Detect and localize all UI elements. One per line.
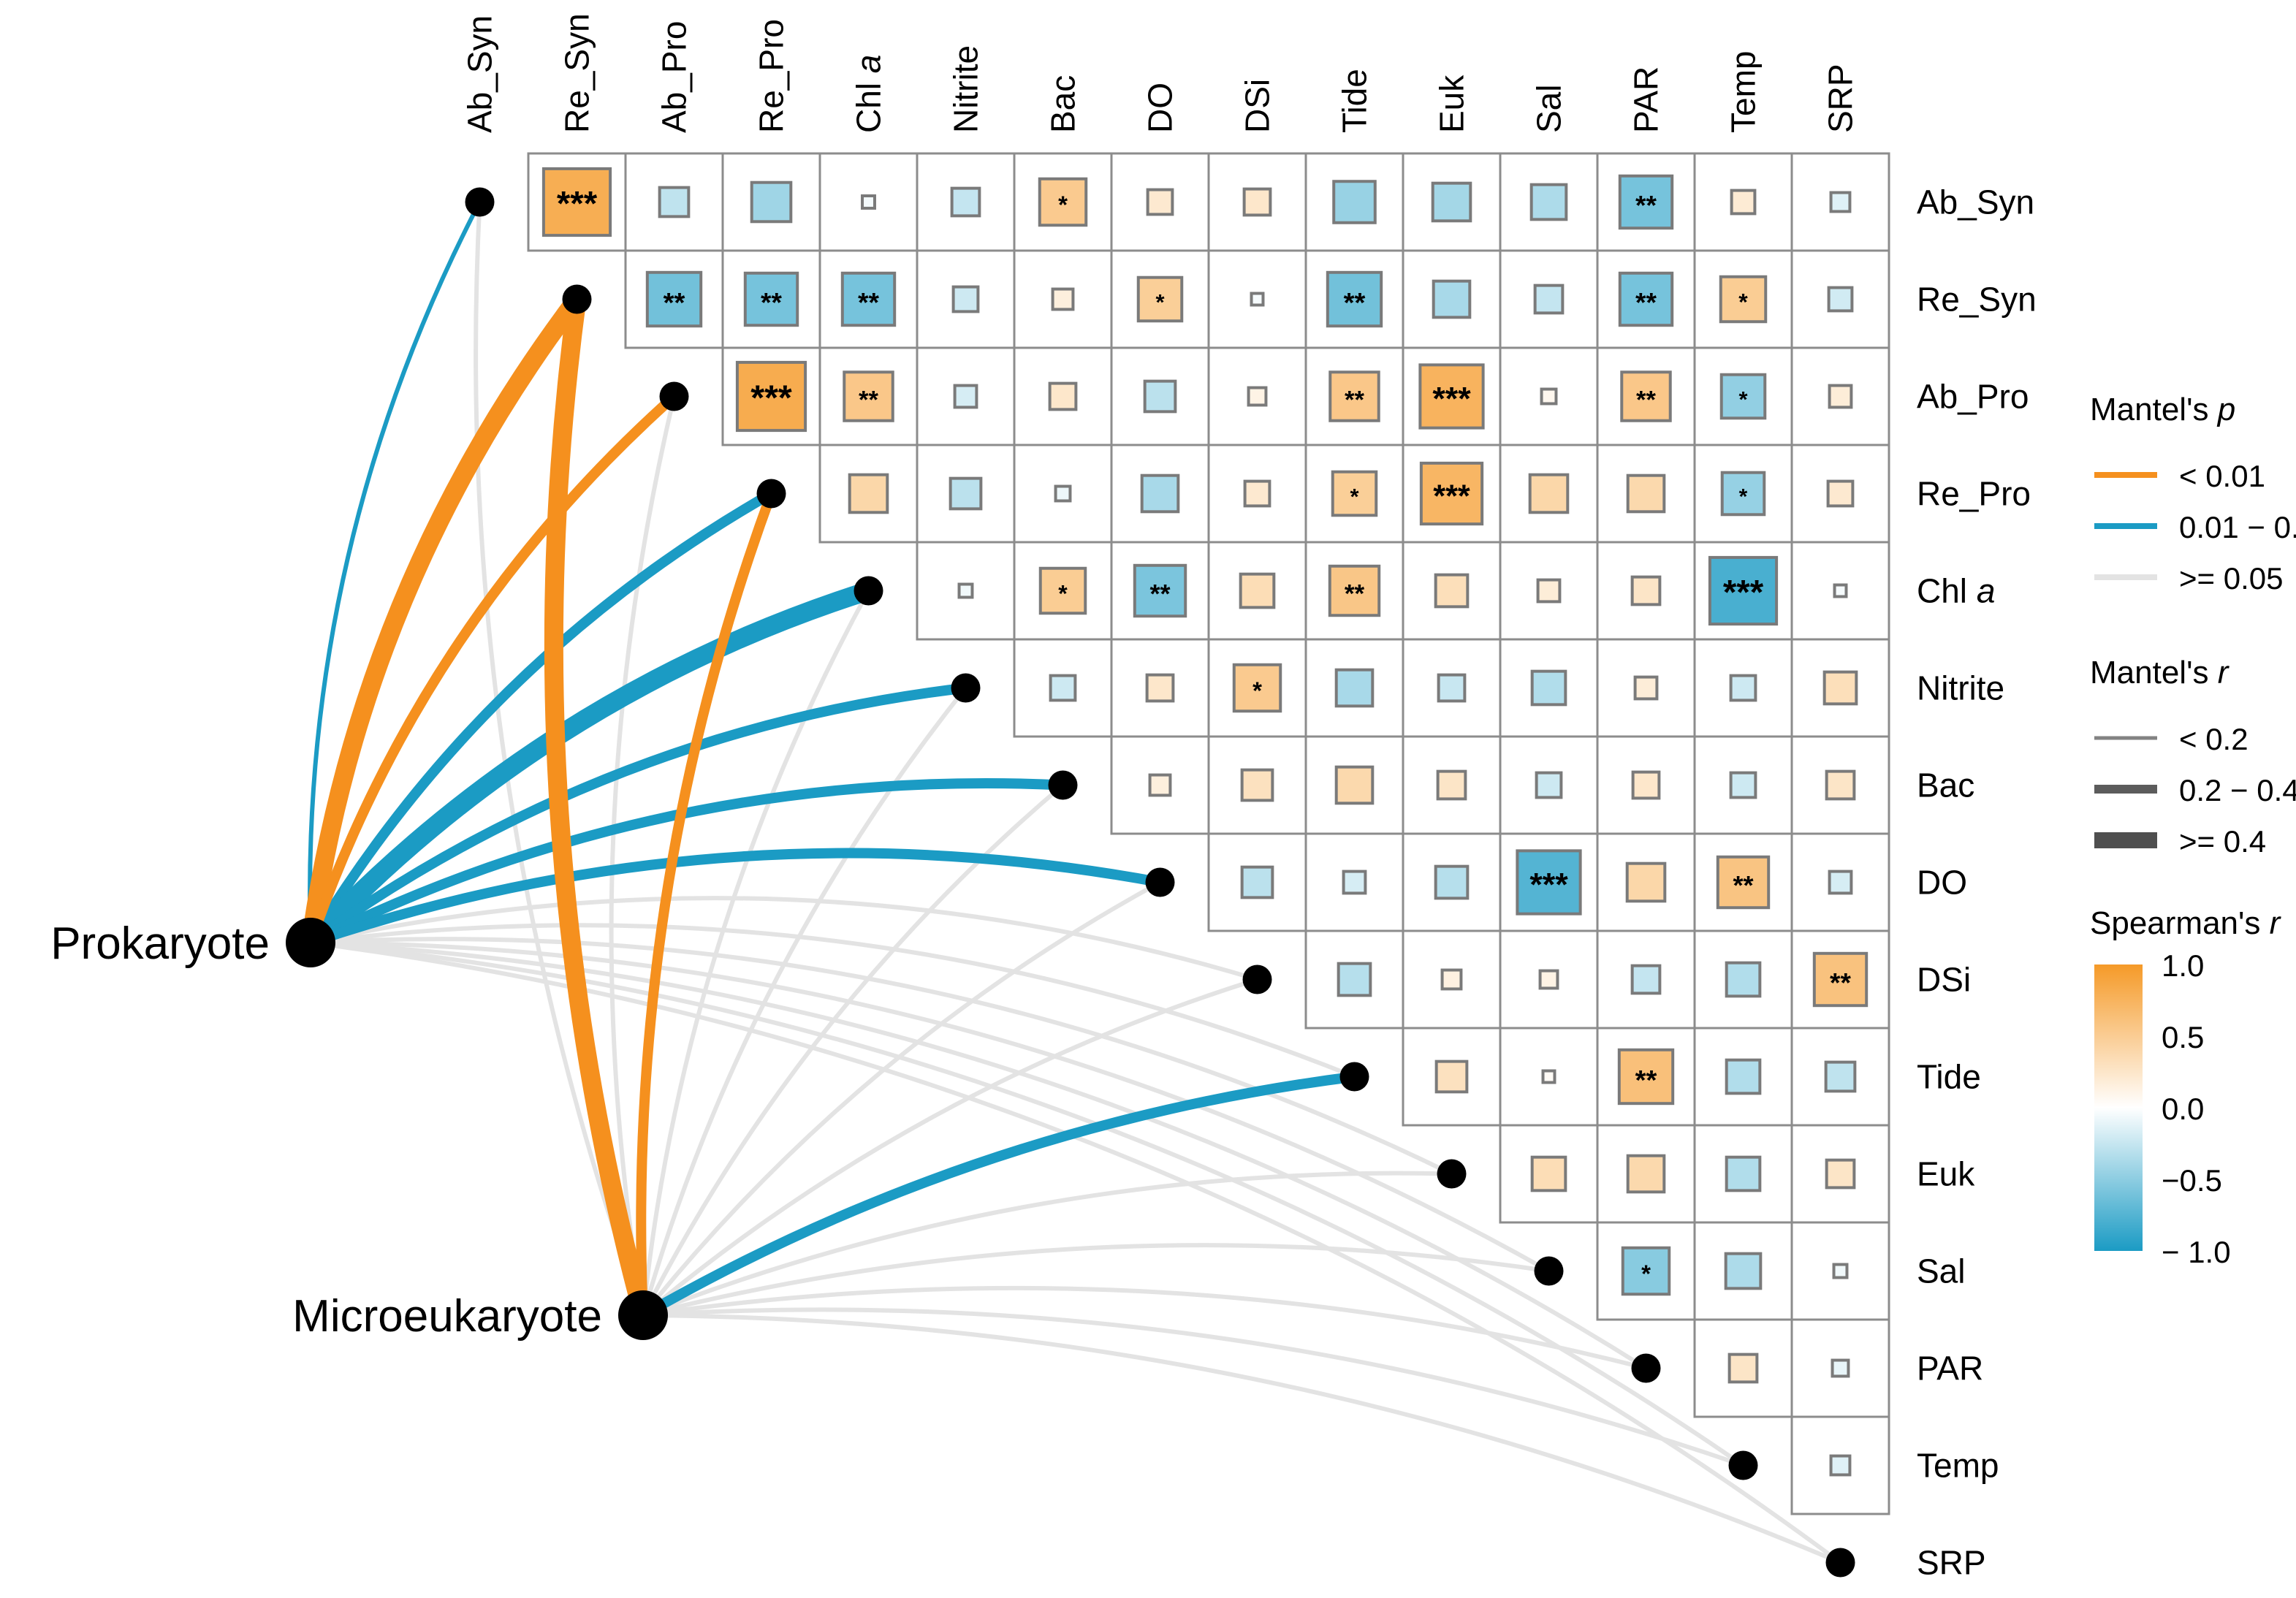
diagonal-node: [1243, 965, 1272, 994]
column-label: Re_Pro: [753, 19, 791, 133]
heatmap-cell-square: [1835, 585, 1847, 597]
heatmap-cell: ***: [544, 169, 610, 235]
column-label-text: Bac: [1044, 75, 1082, 133]
heatmap-cell: [1245, 482, 1270, 506]
heatmap-cell: [1727, 1060, 1760, 1094]
heatmap-cell-square: [1727, 1157, 1760, 1191]
legend-label: 0.01 − 0.05: [2179, 510, 2296, 544]
diagonal-node: [1049, 771, 1078, 800]
heatmap-cell: [1436, 575, 1468, 607]
heatmap-cell-square: [1434, 281, 1470, 318]
legend-title-spearman-r: Spearman's r: [2090, 905, 2282, 941]
heatmap-cell: [1147, 675, 1174, 701]
heatmap-cell-square: [1730, 1355, 1757, 1382]
heatmap-cell: [1830, 872, 1852, 894]
significance-stars: **: [1635, 190, 1657, 221]
diagonal-node: [1437, 1160, 1467, 1189]
row-label: Nitrite: [1917, 669, 2004, 707]
heatmap-cell: [1535, 286, 1563, 313]
significance-stars: *: [1155, 289, 1165, 315]
column-label-text: Re_Syn: [558, 13, 596, 133]
row-label: Chl a: [1917, 572, 1995, 610]
heatmap-cell: [1830, 386, 1852, 408]
heatmap-cell-square: [1334, 181, 1375, 223]
heatmap-cell-square: [1437, 1062, 1467, 1092]
heatmap-cell-square: [1150, 775, 1171, 796]
heatmap-cell: [1241, 574, 1274, 608]
significance-stars: *: [1739, 484, 1748, 509]
heatmap-cell-square: [1827, 772, 1855, 799]
heatmap-cell-square: [660, 188, 689, 217]
legend-title-mantel-r: Mantel's r: [2090, 655, 2230, 690]
diagonal-node: [1146, 868, 1175, 897]
heatmap-cell-square: [1828, 482, 1853, 506]
heatmap-cell-square: [1830, 872, 1852, 894]
significance-stars: ***: [750, 378, 792, 418]
column-label: DSi: [1239, 79, 1277, 133]
heatmap-cell: [1827, 1160, 1855, 1188]
heatmap-cell: [1628, 476, 1665, 512]
heatmap-cell: *: [1623, 1248, 1669, 1294]
column-label-group: Ab_SynRe_SynAb_ProRe_ProChl aNitriteBacD…: [461, 13, 1860, 133]
row-label: Sal: [1917, 1252, 1965, 1290]
heatmap-cell: [1831, 1456, 1850, 1475]
heatmap-cell-square: [1337, 767, 1373, 804]
colorbar: [2094, 964, 2143, 1251]
significance-stars: **: [859, 386, 878, 414]
heatmap-cell-square: [1627, 864, 1665, 902]
heatmap-cell: [752, 183, 791, 222]
heatmap-cell: [1727, 963, 1760, 997]
heatmap-cell-square: [1731, 676, 1756, 701]
heatmap-cell-square: [1245, 482, 1270, 506]
diagonal-node: [1535, 1257, 1564, 1286]
heatmap-cell-square: [959, 585, 973, 598]
heatmap-cell: **: [1620, 176, 1672, 228]
significance-stars: **: [1635, 1065, 1657, 1096]
row-label: Ab_Syn: [1917, 183, 2034, 221]
heatmap-cell-square: [1344, 872, 1366, 894]
heatmap-cell: [1337, 767, 1373, 804]
heatmap-cell: [1242, 867, 1273, 898]
diagonal-node: [660, 382, 689, 411]
column-label-text: PAR: [1627, 66, 1665, 133]
diagonal-node: [1340, 1062, 1369, 1092]
heatmap-cell: [1252, 294, 1263, 305]
significance-stars: ***: [557, 185, 598, 224]
significance-stars: **: [1149, 579, 1170, 609]
heatmap-cell-square: [1339, 964, 1371, 996]
significance-stars: *: [1350, 484, 1359, 509]
heatmap-cell: [862, 196, 875, 208]
heatmap-cell-square: [1535, 286, 1563, 313]
diagonal-node: [1729, 1451, 1758, 1480]
row-label: SRP: [1917, 1544, 1986, 1582]
heatmap-cell: [1831, 193, 1850, 212]
legend-title-mantel-p: Mantel's p: [2090, 392, 2235, 427]
heatmap-cell: *: [1234, 665, 1280, 711]
heatmap-cell-square: [1436, 867, 1468, 899]
heatmap-cell: [1633, 772, 1660, 799]
heatmap-cell: [1337, 670, 1373, 707]
heatmap-cell: [1835, 585, 1847, 597]
heatmap-cell: **: [1135, 566, 1185, 616]
legend-label: >= 0.05: [2179, 561, 2283, 596]
heatmap-cell: [660, 188, 689, 217]
heatmap-cell: ***: [737, 362, 805, 430]
heatmap-cell: [1732, 191, 1755, 214]
heatmap-cell: [1833, 1361, 1849, 1377]
heatmap-cell: **: [1622, 372, 1670, 420]
heatmap-cell-square: [1831, 193, 1850, 212]
column-label: Euk: [1433, 75, 1471, 133]
heatmap-cell-square: [1242, 770, 1273, 801]
heatmap-cell: [1538, 580, 1560, 602]
heatmap-cell-square: [951, 479, 981, 509]
network-node-euk[interactable]: [618, 1290, 668, 1340]
column-label-text: DO: [1141, 83, 1179, 133]
diagonal-node: [1632, 1354, 1661, 1383]
legend-group: Mantel's p< 0.010.01 − 0.05>= 0.05Mantel…: [2090, 392, 2296, 1269]
heatmap-cell: ***: [1517, 851, 1580, 913]
column-label-text: Ab_Syn: [461, 15, 499, 133]
significance-stars: *: [1058, 580, 1068, 606]
heatmap-cell-square: [1436, 575, 1468, 607]
heatmap-cell: [1339, 964, 1371, 996]
column-label: Chl a: [850, 55, 888, 133]
mantel-edge: [554, 300, 643, 1316]
row-label: Euk: [1917, 1155, 1975, 1193]
mantel-edge: [643, 1245, 1549, 1315]
heatmap-cell-square: [1731, 773, 1756, 798]
heatmap-cell-square: [1538, 580, 1560, 602]
heatmap-cell-square: [1252, 294, 1263, 305]
heatmap-cell: [1826, 1062, 1855, 1092]
heatmap-cell-square: [1542, 389, 1556, 404]
heatmap-cell-square: [1148, 190, 1173, 215]
heatmap-cell: [1542, 389, 1556, 404]
heatmap-cell: **: [844, 372, 892, 420]
heatmap-cell-square: [1050, 384, 1076, 410]
heatmap-cell: [1632, 966, 1660, 994]
heatmap-cell-square: [1241, 574, 1274, 608]
legend-label: < 0.2: [2179, 722, 2249, 756]
heatmap-cell: [1627, 864, 1665, 902]
column-label-text: Chl a: [850, 55, 888, 133]
heatmap-cell-square: [1635, 677, 1657, 699]
column-label: Temp: [1725, 51, 1763, 133]
diagonal-node: [757, 479, 786, 509]
mantel-edge: [311, 943, 1841, 1563]
heatmap-cell: [1727, 1157, 1760, 1191]
colorbar-tick-label: 0.5: [2162, 1020, 2204, 1054]
diagonal-node: [465, 188, 495, 217]
heatmap-cell: [1242, 770, 1273, 801]
heatmap-cell: [1148, 190, 1173, 215]
legend-label: >= 0.4: [2179, 824, 2266, 859]
heatmap-cell-square: [752, 183, 791, 222]
heatmap-cell: ***: [1420, 365, 1483, 427]
significance-stars: **: [1830, 967, 1851, 998]
heatmap-cell: [1437, 1062, 1467, 1092]
heatmap-cell-square: [1532, 1157, 1566, 1191]
heatmap-cell: [1053, 289, 1073, 310]
significance-stars: ***: [1433, 479, 1470, 514]
heatmap-cell: [1829, 288, 1852, 311]
heatmap-cell: [1628, 1156, 1665, 1192]
row-label: Temp: [1917, 1447, 1999, 1485]
network-node-label: Microeukaryote: [292, 1291, 602, 1342]
significance-stars: **: [1733, 870, 1753, 900]
heatmap-cell: [1142, 476, 1179, 512]
heatmap-cell-square: [1540, 971, 1558, 989]
heatmap-cell-square: [1056, 487, 1071, 501]
significance-stars: *: [1641, 1260, 1651, 1287]
mantel-heatmap-svg: ****************************************…: [0, 0, 2296, 1598]
column-label: PAR: [1627, 66, 1665, 133]
heatmap-cell: [1731, 773, 1756, 798]
heatmap-cell-square: [1242, 867, 1273, 898]
heatmap-cell: [1530, 475, 1568, 513]
heatmap-cell: [1244, 189, 1271, 216]
column-label: Nitrite: [947, 45, 985, 133]
heatmap-cell: **: [1330, 566, 1379, 615]
heatmap-cell: [1442, 970, 1461, 989]
significance-stars: **: [858, 287, 879, 318]
heatmap-cell: [1635, 677, 1657, 699]
heatmap-cell-square: [1142, 476, 1179, 512]
heatmap-cell-square: [1632, 966, 1660, 994]
heatmap-cell: [1150, 775, 1171, 796]
heatmap-cell-square: [1147, 675, 1174, 701]
heatmap-cell: [955, 386, 977, 408]
column-label: Re_Syn: [558, 13, 596, 133]
heatmap-cell: [1433, 183, 1471, 221]
heatmap-cell-square: [1825, 672, 1857, 704]
heatmap-cell-square: [1727, 963, 1760, 997]
heatmap-cell-square: [1532, 185, 1567, 220]
heatmap-cell-square: [1726, 1254, 1761, 1289]
column-label-text: Ab_Pro: [655, 21, 693, 133]
heatmap-cell: [1344, 872, 1366, 894]
row-label: Re_Pro: [1917, 475, 2031, 513]
heatmap-cell: *: [1722, 375, 1765, 419]
heatmap-cell-square: [1829, 288, 1852, 311]
colorbar-tick-label: −0.5: [2162, 1163, 2222, 1198]
heatmap-cell: [1050, 384, 1076, 410]
legend-label: 0.2 − 0.4: [2179, 773, 2296, 807]
heatmap-cell: [1731, 676, 1756, 701]
significance-stars: *: [1058, 191, 1068, 218]
heatmap-cell-square: [1834, 1265, 1847, 1278]
heatmap-cell-square: [1530, 475, 1568, 513]
row-label: DSi: [1917, 961, 1971, 999]
figure-canvas: ****************************************…: [0, 0, 2296, 1598]
row-label: Ab_Pro: [1917, 378, 2029, 416]
heatmap-cell: **: [1718, 857, 1768, 908]
significance-stars: *: [1738, 387, 1748, 412]
heatmap-cell: *: [1041, 568, 1086, 614]
diagonal-node: [854, 577, 883, 606]
heatmap-cell: *: [1722, 473, 1765, 515]
heatmap-cell: [954, 287, 978, 312]
row-label: PAR: [1917, 1350, 1983, 1388]
colorbar-tick-label: 0.0: [2162, 1092, 2204, 1126]
heatmap-cell: *: [1139, 278, 1182, 321]
column-label-text: SRP: [1822, 64, 1860, 133]
heatmap-cell: [1726, 1254, 1761, 1289]
heatmap-cell-square: [952, 189, 980, 216]
heatmap-cell: ***: [1710, 558, 1776, 624]
heatmap-cell: [1532, 1157, 1566, 1191]
heatmap-cell-square: [1628, 476, 1665, 512]
column-label-text: Euk: [1433, 75, 1471, 133]
significance-stars: **: [1636, 386, 1656, 414]
column-label-text: Re_Pro: [753, 19, 791, 133]
significance-stars: *: [1738, 289, 1748, 315]
heatmap-cell-square: [1433, 183, 1471, 221]
heatmap-cell-square: [1051, 676, 1076, 701]
heatmap-cell-square: [1442, 970, 1461, 989]
heatmap-cell-square: [1632, 577, 1660, 605]
heatmap-cell: [1439, 675, 1465, 701]
column-label: Bac: [1044, 75, 1082, 133]
heatmap-cell-square: [1826, 1062, 1855, 1092]
heatmap-cell-square: [1145, 381, 1176, 412]
mantel-edge: [311, 943, 1744, 1466]
heatmap-cell: [1825, 672, 1857, 704]
heatmap-cell-square: [862, 196, 875, 208]
heatmap-cell: [1438, 772, 1466, 799]
heatmap-cell: *: [1721, 277, 1766, 322]
heatmap-cell: [1532, 185, 1567, 220]
diagonal-node: [563, 285, 592, 314]
column-label-text: DSi: [1239, 79, 1277, 133]
heatmap-cell: [1827, 772, 1855, 799]
heatmap-cell: [1543, 1071, 1555, 1083]
significance-stars: ***: [1432, 380, 1471, 417]
heatmap-cell-square: [1732, 191, 1755, 214]
heatmap-cell: ***: [1421, 463, 1482, 524]
heatmap-cell-square: [954, 287, 978, 312]
heatmap-cell: [1532, 671, 1566, 705]
heatmap-cell-square: [1628, 1156, 1665, 1192]
heatmap-cell-square: [1727, 1060, 1760, 1094]
heatmap-cell: [1334, 181, 1375, 223]
heatmap-cell-square: [1830, 386, 1852, 408]
heatmap-cell: [1828, 482, 1853, 506]
heatmap-cell: **: [1330, 372, 1378, 420]
row-label: Re_Syn: [1917, 281, 2037, 319]
significance-stars: **: [1345, 580, 1365, 609]
diagonal-node: [951, 674, 981, 703]
heatmap-cell: [1434, 281, 1470, 318]
heatmap-cell-square: [1532, 671, 1566, 705]
heatmap-cell-square: [1244, 189, 1271, 216]
heatmap-cell: [1436, 867, 1468, 899]
heatmap-cell: **: [1619, 1050, 1673, 1103]
colorbar-tick-label: − 1.0: [2162, 1235, 2231, 1269]
heatmap-cell-square: [1337, 670, 1373, 707]
heatmap-cell: [1834, 1265, 1847, 1278]
heatmap-cell: *: [1040, 179, 1086, 225]
heatmap-cell-square: [1439, 675, 1465, 701]
diagonal-node: [1826, 1548, 1855, 1578]
column-label: Ab_Pro: [655, 21, 693, 133]
heatmap-cell-square: [1053, 289, 1073, 310]
column-label-text: Nitrite: [947, 45, 985, 133]
column-label: Tide: [1336, 69, 1374, 133]
heatmap-cell: **: [647, 273, 701, 326]
legend-label: < 0.01: [2179, 459, 2265, 493]
significance-stars: ***: [1529, 866, 1568, 903]
row-label: DO: [1917, 864, 1967, 902]
heatmap-cell-square: [1831, 1456, 1850, 1475]
row-label-group: Ab_SynRe_SynAb_ProRe_ProChl aNitriteBacD…: [1917, 183, 2037, 1582]
heatmap-cell: [1249, 388, 1266, 406]
significance-stars: ***: [1723, 574, 1764, 612]
heatmap-cell: **: [1814, 954, 1866, 1005]
heatmap-cell: [1051, 676, 1076, 701]
heatmap-cell: [951, 479, 981, 509]
column-label: SRP: [1822, 64, 1860, 133]
column-label-text: Sal: [1530, 85, 1568, 133]
heatmap-cell-square: [1827, 1160, 1855, 1188]
heatmap-cell: [1540, 971, 1558, 989]
row-label: Tide: [1917, 1058, 1981, 1096]
heatmap-cell-square: [1249, 388, 1266, 406]
network-node-label: Prokaryote: [50, 918, 270, 969]
heatmap-cell-square: [1438, 772, 1466, 799]
column-label: Ab_Syn: [461, 15, 499, 133]
heatmap-cell-square: [1543, 1071, 1555, 1083]
heatmap-cell-square: [1537, 773, 1562, 798]
heatmap-cell: [850, 475, 888, 513]
heatmap-cell: **: [1620, 273, 1672, 325]
heatmap-cell-square: [850, 475, 888, 513]
significance-stars: **: [761, 287, 782, 318]
heatmap-cell: **: [843, 273, 894, 325]
heatmap-cell: *: [1333, 472, 1377, 516]
significance-stars: **: [664, 287, 685, 319]
heatmap-cell: [952, 189, 980, 216]
row-label: Bac: [1917, 766, 1974, 804]
heatmap-cell-square: [1833, 1361, 1849, 1377]
heatmap-cell-square: [955, 386, 977, 408]
network-node-prok[interactable]: [286, 918, 335, 967]
heatmap-cell: **: [1328, 273, 1381, 326]
column-label: Sal: [1530, 85, 1568, 133]
heatmap-cell-square: [1633, 772, 1660, 799]
significance-stars: *: [1252, 677, 1262, 704]
significance-stars: **: [1345, 386, 1364, 414]
column-label-text: Tide: [1336, 69, 1374, 133]
heatmap-cell: [1056, 487, 1071, 501]
heatmap-cell: [1537, 773, 1562, 798]
heatmap-cell: **: [745, 273, 797, 325]
heatmap-cell: [1730, 1355, 1757, 1382]
column-label: DO: [1141, 83, 1179, 133]
column-label-text: Temp: [1725, 51, 1763, 133]
significance-stars: **: [1344, 287, 1366, 319]
colorbar-tick-label: 1.0: [2162, 948, 2204, 983]
heatmap-cell: [1145, 381, 1176, 412]
heatmap-cell: [959, 585, 973, 598]
heatmap-cell: [1632, 577, 1660, 605]
significance-stars: **: [1635, 287, 1657, 318]
